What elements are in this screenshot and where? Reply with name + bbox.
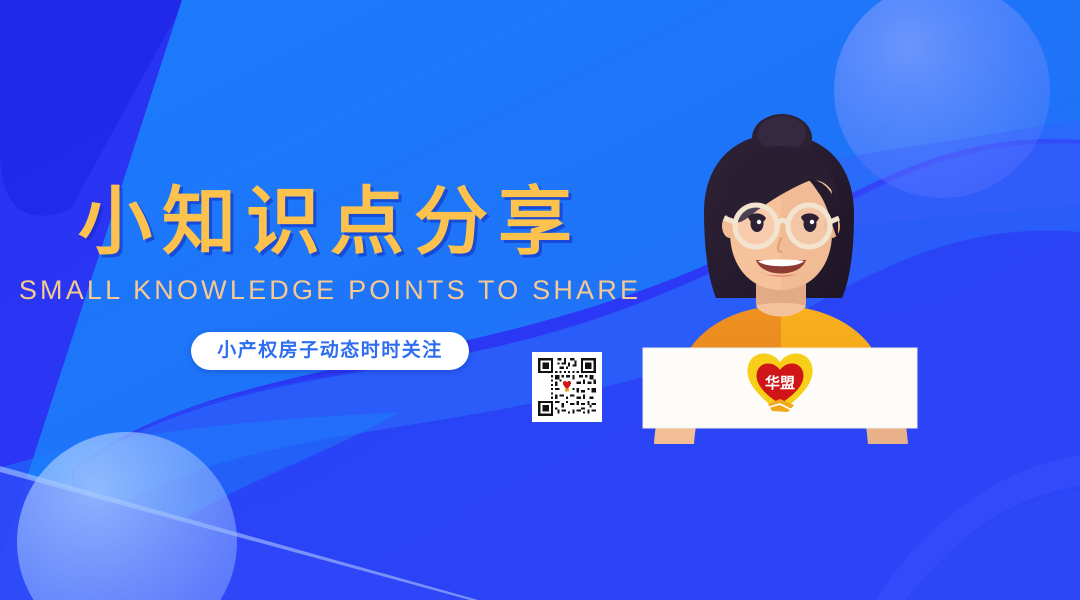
person-holding-sign-illustration: 华盟 [620, 120, 940, 480]
page-title: 小知识点分享 [0, 185, 660, 259]
qr-code-icon[interactable] [532, 352, 602, 422]
svg-text:华盟: 华盟 [765, 374, 795, 392]
text-block: 小知识点分享 SMALL KNOWLEDGE POINTS TO SHARE 小… [0, 185, 660, 370]
promo-banner: 华盟 小知识点分享 SMALL KNOWLEDGE POINTS TO SHAR… [0, 0, 1080, 600]
tagline-pill[interactable]: 小产权房子动态时时关注 [191, 332, 469, 370]
page-subtitle: SMALL KNOWLEDGE POINTS TO SHARE [0, 277, 660, 304]
